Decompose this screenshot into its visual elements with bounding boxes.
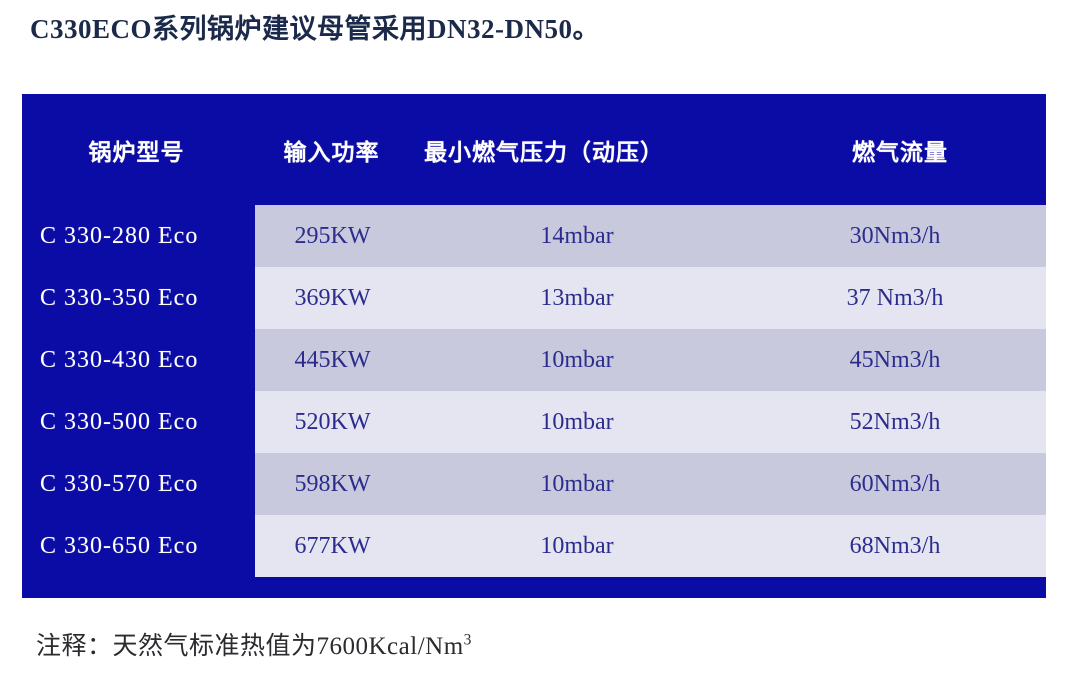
cell-boiler-model: C 330-500 Eco bbox=[22, 391, 255, 453]
cell-boiler-model: C 330-570 Eco bbox=[22, 453, 255, 515]
cell-input-power: 677KW bbox=[255, 515, 410, 577]
cell-min-gas-pressure: 10mbar bbox=[410, 391, 744, 453]
cell-input-power: 295KW bbox=[255, 205, 410, 267]
cell-input-power: 369KW bbox=[255, 267, 410, 329]
cell-gas-flow: 37 Nm3/h bbox=[744, 267, 1046, 329]
cell-input-power: 520KW bbox=[255, 391, 410, 453]
table-row: C 330-280 Eco295KW14mbar30Nm3/h bbox=[22, 205, 1046, 267]
page-title: C330ECO系列锅炉建议母管采用DN32-DN50。 bbox=[30, 13, 600, 45]
table-row: C 330-350 Eco369KW13mbar37 Nm3/h bbox=[22, 267, 1046, 329]
table-body: C 330-280 Eco295KW14mbar30Nm3/hC 330-350… bbox=[22, 205, 1046, 577]
cell-min-gas-pressure: 10mbar bbox=[410, 515, 744, 577]
cell-min-gas-pressure: 10mbar bbox=[410, 453, 744, 515]
cell-boiler-model: C 330-430 Eco bbox=[22, 329, 255, 391]
cell-min-gas-pressure: 14mbar bbox=[410, 205, 744, 267]
column-header-input-power: 输入功率 bbox=[255, 94, 410, 205]
table-row: C 330-500 Eco520KW10mbar52Nm3/h bbox=[22, 391, 1046, 453]
footnote: 注释：天然气标准热值为7600Kcal/Nm3 bbox=[36, 626, 472, 662]
column-header-gas-flow: 燃气流量 bbox=[744, 94, 1046, 205]
cell-boiler-model: C 330-280 Eco bbox=[22, 205, 255, 267]
table-row: C 330-650 Eco677KW10mbar68Nm3/h bbox=[22, 515, 1046, 577]
table-header: 锅炉型号 输入功率 最小燃气压力（动压） 燃气流量 bbox=[22, 94, 1046, 205]
column-header-min-gas-pressure: 最小燃气压力（动压） bbox=[410, 94, 744, 205]
cell-min-gas-pressure: 13mbar bbox=[410, 267, 744, 329]
cell-gas-flow: 52Nm3/h bbox=[744, 391, 1046, 453]
cell-input-power: 445KW bbox=[255, 329, 410, 391]
cell-boiler-model: C 330-350 Eco bbox=[22, 267, 255, 329]
footnote-text: 注释：天然气标准热值为7600Kcal/Nm bbox=[36, 633, 464, 660]
cell-boiler-model: C 330-650 Eco bbox=[22, 515, 255, 577]
table-row: C 330-570 Eco598KW10mbar60Nm3/h bbox=[22, 453, 1046, 515]
table-row: C 330-430 Eco445KW10mbar45Nm3/h bbox=[22, 329, 1046, 391]
cell-gas-flow: 45Nm3/h bbox=[744, 329, 1046, 391]
boiler-spec-table: 锅炉型号 输入功率 最小燃气压力（动压） 燃气流量 C 330-280 Eco2… bbox=[22, 94, 1046, 577]
table-header-row: 锅炉型号 输入功率 最小燃气压力（动压） 燃气流量 bbox=[22, 94, 1046, 205]
cell-min-gas-pressure: 10mbar bbox=[410, 329, 744, 391]
spec-table-panel: 锅炉型号 输入功率 最小燃气压力（动压） 燃气流量 C 330-280 Eco2… bbox=[22, 94, 1046, 598]
cell-gas-flow: 68Nm3/h bbox=[744, 515, 1046, 577]
cell-input-power: 598KW bbox=[255, 453, 410, 515]
column-header-model: 锅炉型号 bbox=[22, 94, 255, 205]
cell-gas-flow: 60Nm3/h bbox=[744, 453, 1046, 515]
cell-gas-flow: 30Nm3/h bbox=[744, 205, 1046, 267]
footnote-superscript: 3 bbox=[464, 632, 472, 649]
